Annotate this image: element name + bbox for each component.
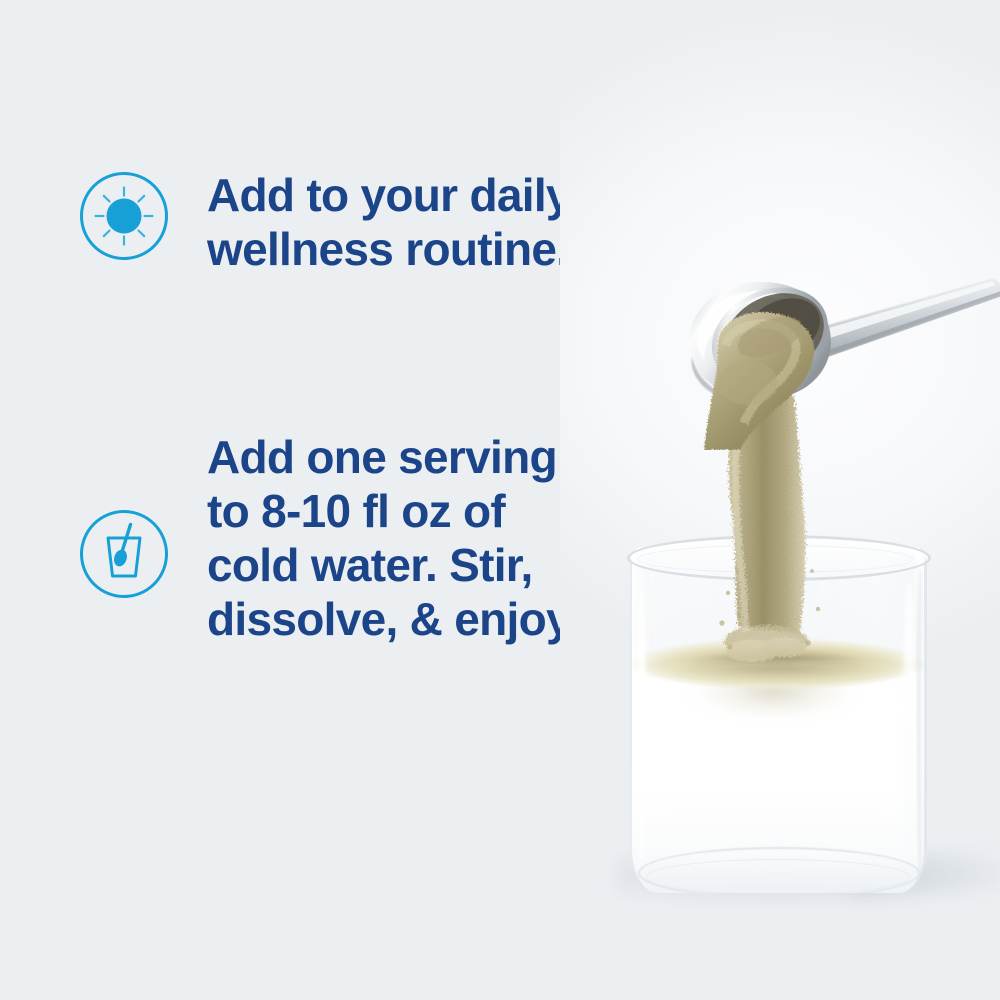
- product-usage-graphic: Add to your daily wellness routine. Add …: [0, 0, 1000, 1000]
- glass-highlight-right: [903, 581, 915, 871]
- glass-highlight-left: [637, 587, 646, 867]
- instruction-step-2-text: Add one serving to 8-10 fl oz of cold wa…: [207, 430, 580, 646]
- glass-edge-right: [917, 569, 924, 877]
- instructions-column: Add to your daily wellness routine. Add …: [0, 0, 600, 1000]
- instruction-step-1-text: Add to your daily wellness routine.: [207, 168, 571, 276]
- product-photo: [560, 0, 1000, 1000]
- measuring-scoop: [678, 275, 1000, 450]
- sun-icon: [78, 170, 170, 262]
- glass-base-inner: [646, 859, 910, 893]
- glass-with-spoon-icon: [78, 508, 170, 600]
- instruction-step-2: Add one serving to 8-10 fl oz of cold wa…: [78, 430, 580, 646]
- instruction-step-1: Add to your daily wellness routine.: [78, 168, 571, 276]
